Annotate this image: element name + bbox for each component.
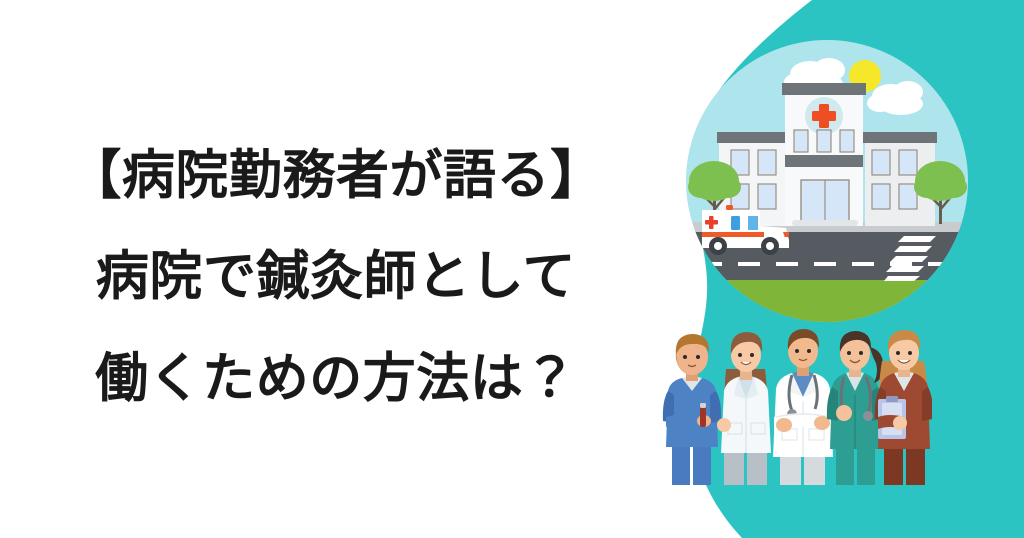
hospital-scene-circle [686,40,968,322]
entrance-step [792,220,858,226]
staff-member-3 [773,329,833,491]
headline-line-2: 病院で鍼灸師として [96,248,576,305]
headline-line-3: 働くための方法は？ [95,350,577,407]
tower-roof [782,83,866,95]
headline-block: 【病院勤務者が語る】 病院で鍼灸師として 働くための方法は？ [0,0,672,538]
headline-line-1: 【病院勤務者が語る】 [68,147,603,204]
thumbnail-canvas: 【病院勤務者が語る】 病院で鍼灸師として 働くための方法は？ [0,0,1024,538]
staff-member-4 [827,331,883,491]
staff-member-2 [717,332,771,491]
staff-member-5 [875,330,933,491]
medical-staff-group [652,325,932,485]
right-wing-roof [863,132,937,143]
tower-windows [794,130,854,152]
tower-band [785,155,863,167]
